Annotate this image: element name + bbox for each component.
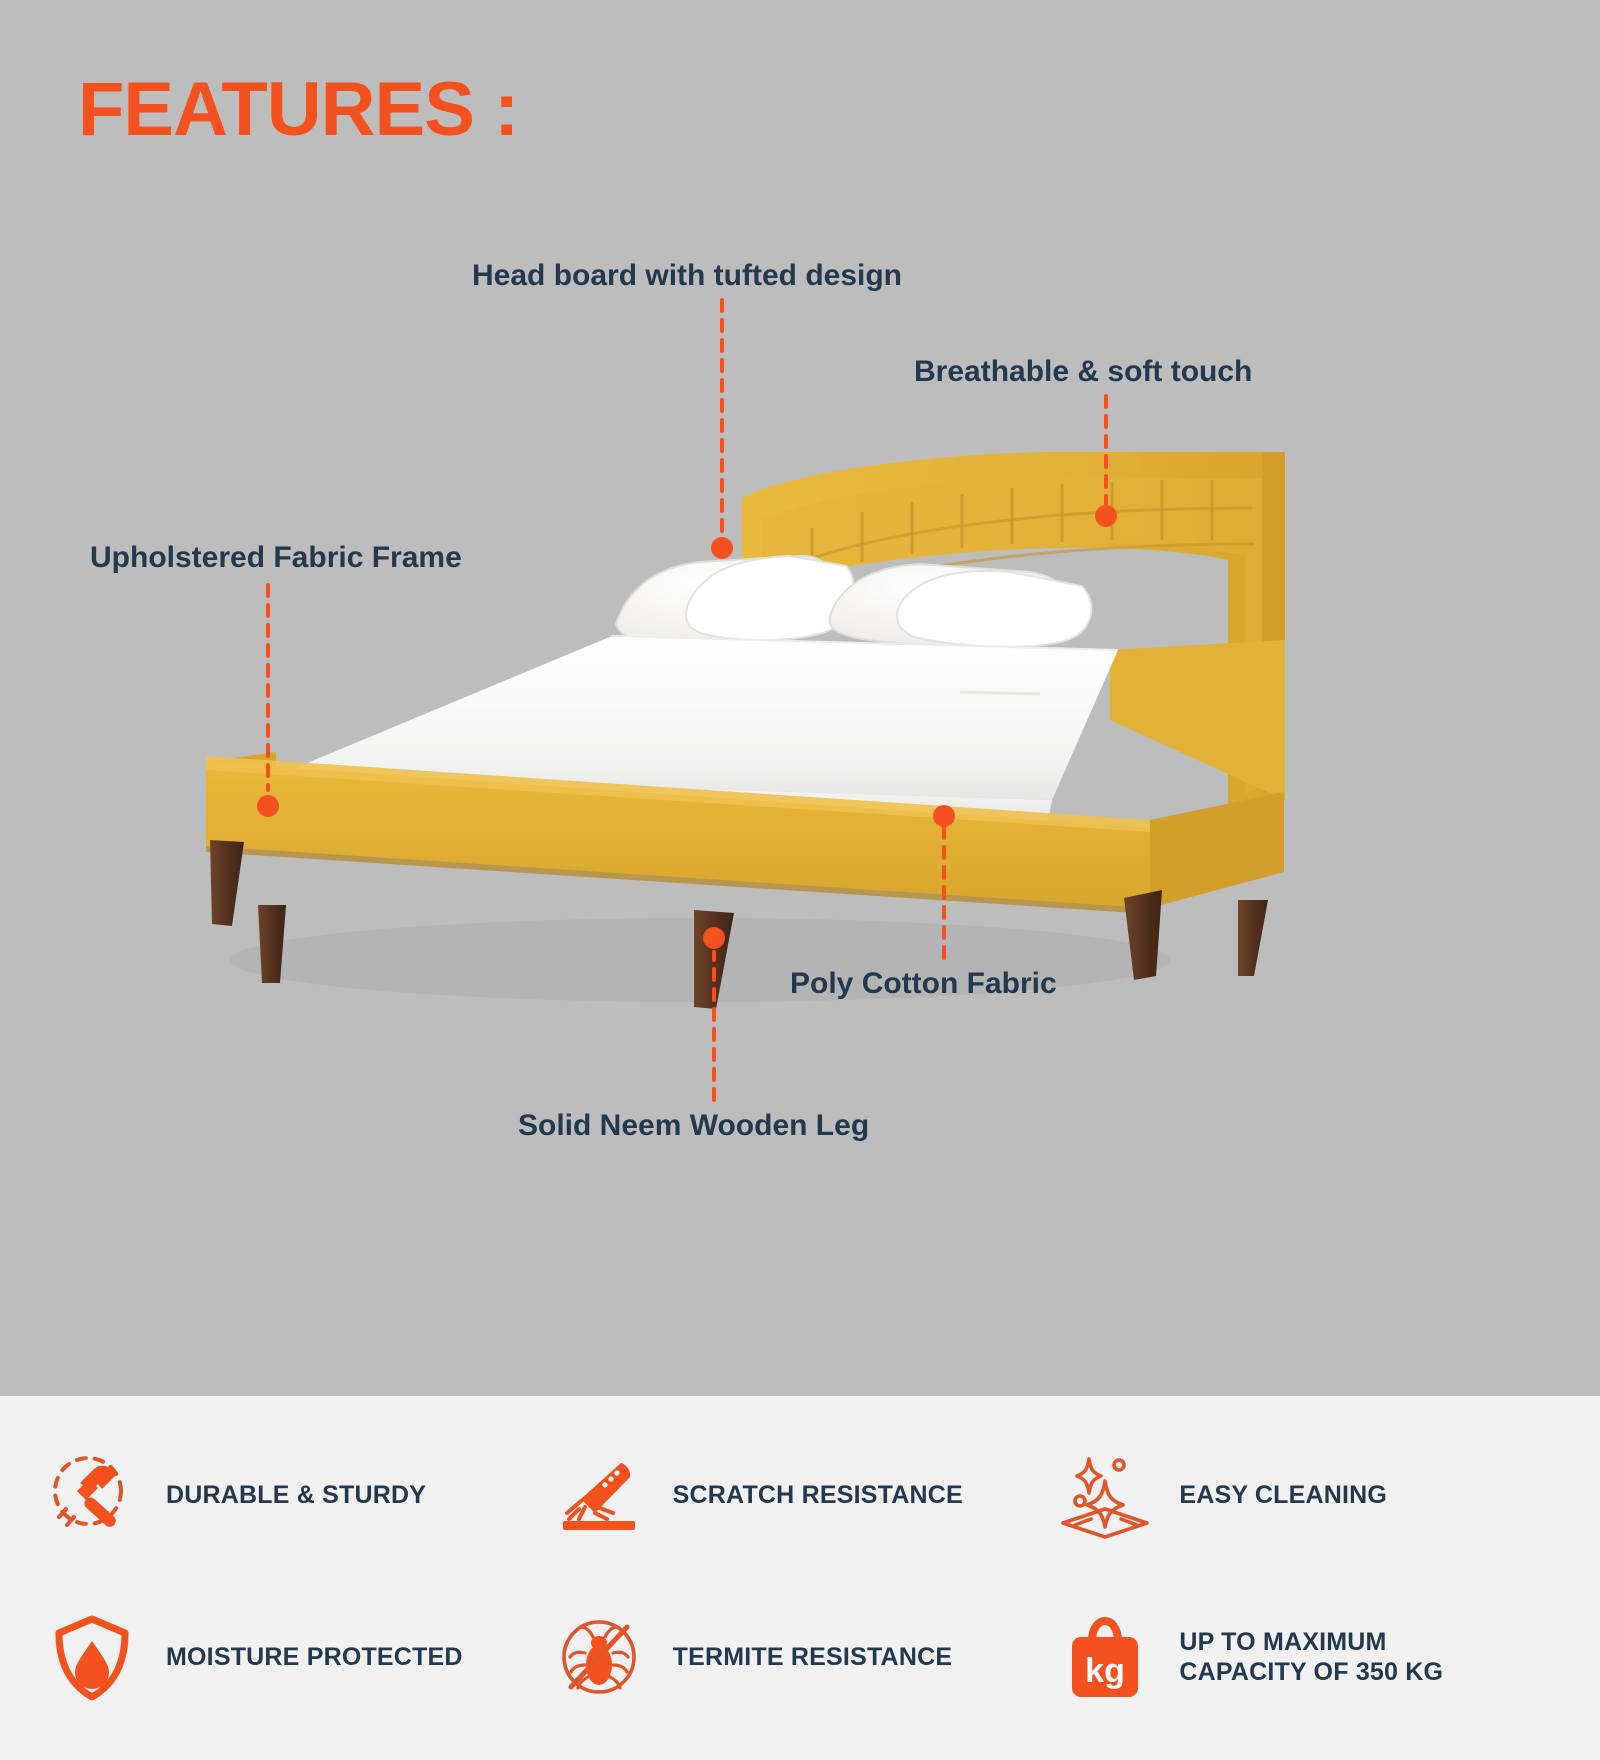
- callout-leader-lines: [0, 0, 1600, 1396]
- feature-label-moisture: MOISTURE PROTECTED: [166, 1642, 463, 1673]
- callout-label-upholstered: Upholstered Fabric Frame: [90, 541, 462, 576]
- feature-item-moisture: MOISTURE PROTECTED: [40, 1576, 547, 1738]
- feature-item-capacity: kg UP TO MAXIMUM CAPACITY OF 350 KG: [1053, 1576, 1560, 1738]
- callout-label-headboard: Head board with tufted design: [472, 259, 902, 294]
- feature-grid: DURABLE & STURDY: [0, 1396, 1600, 1760]
- blade-scratch-icon: [547, 1443, 651, 1547]
- features-strip: DURABLE & STURDY: [0, 1396, 1600, 1760]
- no-bug-icon: [547, 1605, 651, 1709]
- kg-icon-text: kg: [1085, 1652, 1125, 1690]
- leader-dot-upholstered: [257, 795, 279, 817]
- feature-label-capacity: UP TO MAXIMUM CAPACITY OF 350 KG: [1179, 1627, 1443, 1688]
- feature-item-scratch: SCRATCH RESISTANCE: [547, 1414, 1054, 1576]
- feature-item-termite: TERMITE RESISTANCE: [547, 1576, 1054, 1738]
- callout-label-wooden-leg: Solid Neem Wooden Leg: [518, 1109, 869, 1144]
- kg-bag-icon: kg: [1053, 1605, 1157, 1709]
- leader-dot-breathable: [1095, 505, 1117, 527]
- feature-label-cleaning: EASY CLEANING: [1179, 1480, 1387, 1511]
- hammer-icon: [40, 1443, 144, 1547]
- leader-dot-polycotton: [933, 805, 955, 827]
- feature-label-scratch: SCRATCH RESISTANCE: [673, 1480, 963, 1511]
- shield-droplet-icon: [40, 1605, 144, 1709]
- leader-dot-woodenleg: [703, 927, 725, 949]
- hero-panel: FEATURES :: [0, 0, 1600, 1396]
- callout-label-breathable: Breathable & soft touch: [914, 355, 1252, 390]
- sparkle-icon: [1053, 1443, 1157, 1547]
- leader-dot-headboard: [711, 537, 733, 559]
- feature-item-durable: DURABLE & STURDY: [40, 1414, 547, 1576]
- feature-label-termite: TERMITE RESISTANCE: [673, 1642, 953, 1673]
- feature-label-durable: DURABLE & STURDY: [166, 1480, 426, 1511]
- callout-label-poly-cotton: Poly Cotton Fabric: [790, 967, 1057, 1002]
- feature-item-cleaning: EASY CLEANING: [1053, 1414, 1560, 1576]
